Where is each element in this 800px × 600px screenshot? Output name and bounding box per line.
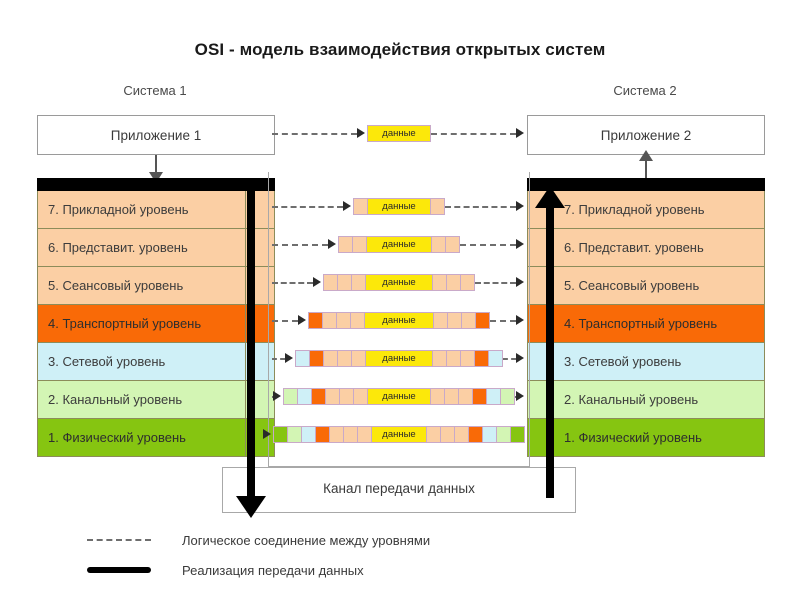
system-2-layer-stack: 7. Прикладной уровень 6. Представит. уро…: [527, 178, 765, 457]
packet-trailer-segment: [489, 351, 502, 366]
logical-link-dashed: [272, 244, 328, 246]
packet-header-segment: [330, 427, 344, 442]
logical-link-arrow-icon: [263, 429, 271, 439]
layer-3-right: 3. Сетевой уровень: [527, 343, 765, 381]
packet-level-6: данные: [338, 236, 460, 253]
layer-2-left: 2. Канальный уровень: [37, 381, 275, 419]
packet-header-segment: [312, 389, 326, 404]
packet-header-segment: [309, 313, 323, 328]
logical-link-arrow-icon: [357, 128, 365, 138]
packet-level-2: данные: [283, 388, 515, 405]
packet-level-4: данные: [308, 312, 490, 329]
logical-link-arrow-icon: [328, 239, 336, 249]
logical-link-arrow-icon: [298, 315, 306, 325]
dashed-line-icon: [80, 539, 158, 541]
layer-7-left-label: 7. Прикладной уровень: [38, 202, 189, 217]
logical-link-arrow-icon: [516, 128, 524, 138]
packet-level-5: данные: [323, 274, 475, 291]
packet-trailer-segment: [433, 275, 447, 290]
logical-link-arrow-icon: [516, 201, 524, 211]
packet-header-segment: [338, 351, 352, 366]
layer-4-right-label: 4. Транспортный уровень: [528, 316, 717, 331]
solid-line-icon: [80, 567, 158, 573]
layer-1-left-label: 1. Физический уровень: [38, 430, 186, 445]
transmission-down-line: [247, 178, 255, 498]
packet-header-segment: [353, 237, 367, 252]
packet-header-segment: [352, 275, 366, 290]
app2-stack-connector-arrow-icon: [639, 150, 653, 161]
logical-link-arrow-icon: [516, 315, 524, 325]
packet-header-segment: [310, 351, 324, 366]
packet-header-segment: [316, 427, 330, 442]
logical-link-arrow-icon: [343, 201, 351, 211]
logical-link-arrow-icon: [273, 391, 281, 401]
packet-trailer-segment: [431, 199, 444, 214]
packet-header-segment: [358, 427, 372, 442]
packet-trailer-segment: [511, 427, 524, 442]
packet-header-segment: [284, 389, 298, 404]
layer-4-left-label: 4. Транспортный уровень: [38, 316, 201, 331]
packet-level-1: данные: [273, 426, 525, 443]
application-2-box: Приложение 2: [527, 115, 765, 155]
packet-trailer-segment: [434, 313, 448, 328]
packet-header-segment: [354, 199, 368, 214]
packet-trailer-segment: [432, 237, 446, 252]
logical-link-dashed: [272, 320, 298, 322]
packet-trailer-segment: [448, 313, 462, 328]
packet-trailer-segment: [459, 389, 473, 404]
packet-header-segment: [339, 237, 353, 252]
packet-data-label: данные: [372, 427, 427, 442]
packet-trailer-segment: [427, 427, 441, 442]
logical-link-dashed: [490, 320, 516, 322]
layer-4-right: 4. Транспортный уровень: [527, 305, 765, 343]
packet-trailer-segment: [476, 313, 489, 328]
layer-6-left: 6. Представит. уровень: [37, 229, 275, 267]
packet-header-segment: [298, 389, 312, 404]
legend-row: Логическое соединение между уровнями: [80, 525, 640, 555]
logical-link-dashed: [445, 206, 516, 208]
packet-header-segment: [323, 313, 337, 328]
packet-header-segment: [338, 275, 352, 290]
layer-2-left-label: 2. Канальный уровень: [38, 392, 182, 407]
logical-link-arrow-icon: [516, 239, 524, 249]
packet-data-label: данные: [365, 313, 434, 328]
application-1-box: Приложение 1: [37, 115, 275, 155]
logical-link-arrow-icon: [313, 277, 321, 287]
packet-trailer-segment: [462, 313, 476, 328]
layer-3-left: 3. Сетевой уровень: [37, 343, 275, 381]
layer-2-right: 2. Канальный уровень: [527, 381, 765, 419]
transmission-up-arrow-icon: [535, 186, 565, 208]
system-1-layer-stack: 7. Прикладной уровень 6. Представит. уро…: [37, 178, 275, 457]
logical-link-dashed: [272, 358, 285, 360]
packet-trailer-segment: [445, 389, 459, 404]
transmission-down-arrow-icon: [236, 496, 266, 518]
logical-link-arrow-icon: [516, 353, 524, 363]
application-1-label: Приложение 1: [111, 128, 201, 143]
packet-trailer-segment: [487, 389, 501, 404]
packet-level-app: данные: [367, 125, 431, 142]
packet-trailer-segment: [497, 427, 511, 442]
logical-link-arrow-icon: [516, 277, 524, 287]
layer-1-left: 1. Физический уровень: [37, 419, 275, 457]
stack-top-bar: [37, 178, 275, 191]
packet-header-segment: [302, 427, 316, 442]
layer-5-right: 5. Сеансовый уровень: [527, 267, 765, 305]
logical-link-dashed: [475, 282, 516, 284]
osi-diagram: OSI - модель взаимодействия открытых сис…: [0, 0, 800, 600]
packet-header-segment: [274, 427, 288, 442]
legend-row: Реализация передачи данных: [80, 555, 640, 585]
layer-5-left: 5. Сеансовый уровень: [37, 267, 275, 305]
logical-link-dashed: [272, 206, 343, 208]
legend-label: Реализация передачи данных: [158, 563, 364, 578]
packet-trailer-segment: [433, 351, 447, 366]
packet-header-segment: [354, 389, 368, 404]
logical-link-arrow-icon: [516, 391, 524, 401]
system-2-caption: Система 2: [525, 83, 765, 98]
legend: Логическое соединение между уровнями Реа…: [80, 525, 640, 585]
layer-7-left: 7. Прикладной уровень: [37, 191, 275, 229]
packet-data-label: данные: [368, 126, 430, 141]
packet-trailer-segment: [473, 389, 487, 404]
layer-6-right-label: 6. Представит. уровень: [528, 240, 704, 255]
layer-1-right: 1. Физический уровень: [527, 419, 765, 457]
layer-1-right-label: 1. Физический уровень: [528, 430, 702, 445]
logical-link-dashed: [272, 133, 357, 135]
packet-trailer-segment: [461, 351, 475, 366]
packet-trailer-segment: [446, 237, 459, 252]
layer-6-right: 6. Представит. уровень: [527, 229, 765, 267]
layer-3-left-label: 3. Сетевой уровень: [38, 354, 165, 369]
logical-link-dashed: [503, 358, 516, 360]
application-2-label: Приложение 2: [601, 128, 691, 143]
transmission-up-line: [546, 196, 554, 498]
packet-data-label: данные: [366, 275, 433, 290]
layer-5-left-label: 5. Сеансовый уровень: [38, 278, 183, 293]
packet-data-label: данные: [368, 389, 431, 404]
packet-trailer-segment: [447, 275, 461, 290]
packet-header-segment: [337, 313, 351, 328]
packet-trailer-segment: [483, 427, 497, 442]
data-channel-label: Канал передачи данных: [222, 481, 576, 496]
packet-trailer-segment: [431, 389, 445, 404]
packet-trailer-segment: [447, 351, 461, 366]
packet-header-segment: [326, 389, 340, 404]
packet-header-segment: [324, 275, 338, 290]
packet-data-label: данные: [368, 199, 431, 214]
packet-trailer-segment: [455, 427, 469, 442]
logical-link-arrow-icon: [285, 353, 293, 363]
packet-trailer-segment: [501, 389, 514, 404]
packet-trailer-segment: [475, 351, 489, 366]
packet-level-7: данные: [353, 198, 445, 215]
packet-trailer-segment: [441, 427, 455, 442]
page-title: OSI - модель взаимодействия открытых сис…: [0, 40, 800, 60]
packet-data-label: данные: [366, 351, 433, 366]
logical-link-dashed: [272, 282, 313, 284]
packet-data-label: данные: [367, 237, 432, 252]
packet-header-segment: [296, 351, 310, 366]
packet-header-segment: [352, 351, 366, 366]
system-1-caption: Система 1: [35, 83, 275, 98]
layer-4-left: 4. Транспортный уровень: [37, 305, 275, 343]
packet-header-segment: [324, 351, 338, 366]
logical-link-dashed: [460, 244, 516, 246]
packet-header-segment: [351, 313, 365, 328]
layer-6-left-label: 6. Представит. уровень: [38, 240, 188, 255]
legend-label: Логическое соединение между уровнями: [158, 533, 430, 548]
packet-trailer-segment: [461, 275, 474, 290]
packet-level-3: данные: [295, 350, 503, 367]
packet-header-segment: [288, 427, 302, 442]
logical-link-dashed: [431, 133, 516, 135]
packet-header-segment: [340, 389, 354, 404]
packet-trailer-segment: [469, 427, 483, 442]
packet-header-segment: [344, 427, 358, 442]
